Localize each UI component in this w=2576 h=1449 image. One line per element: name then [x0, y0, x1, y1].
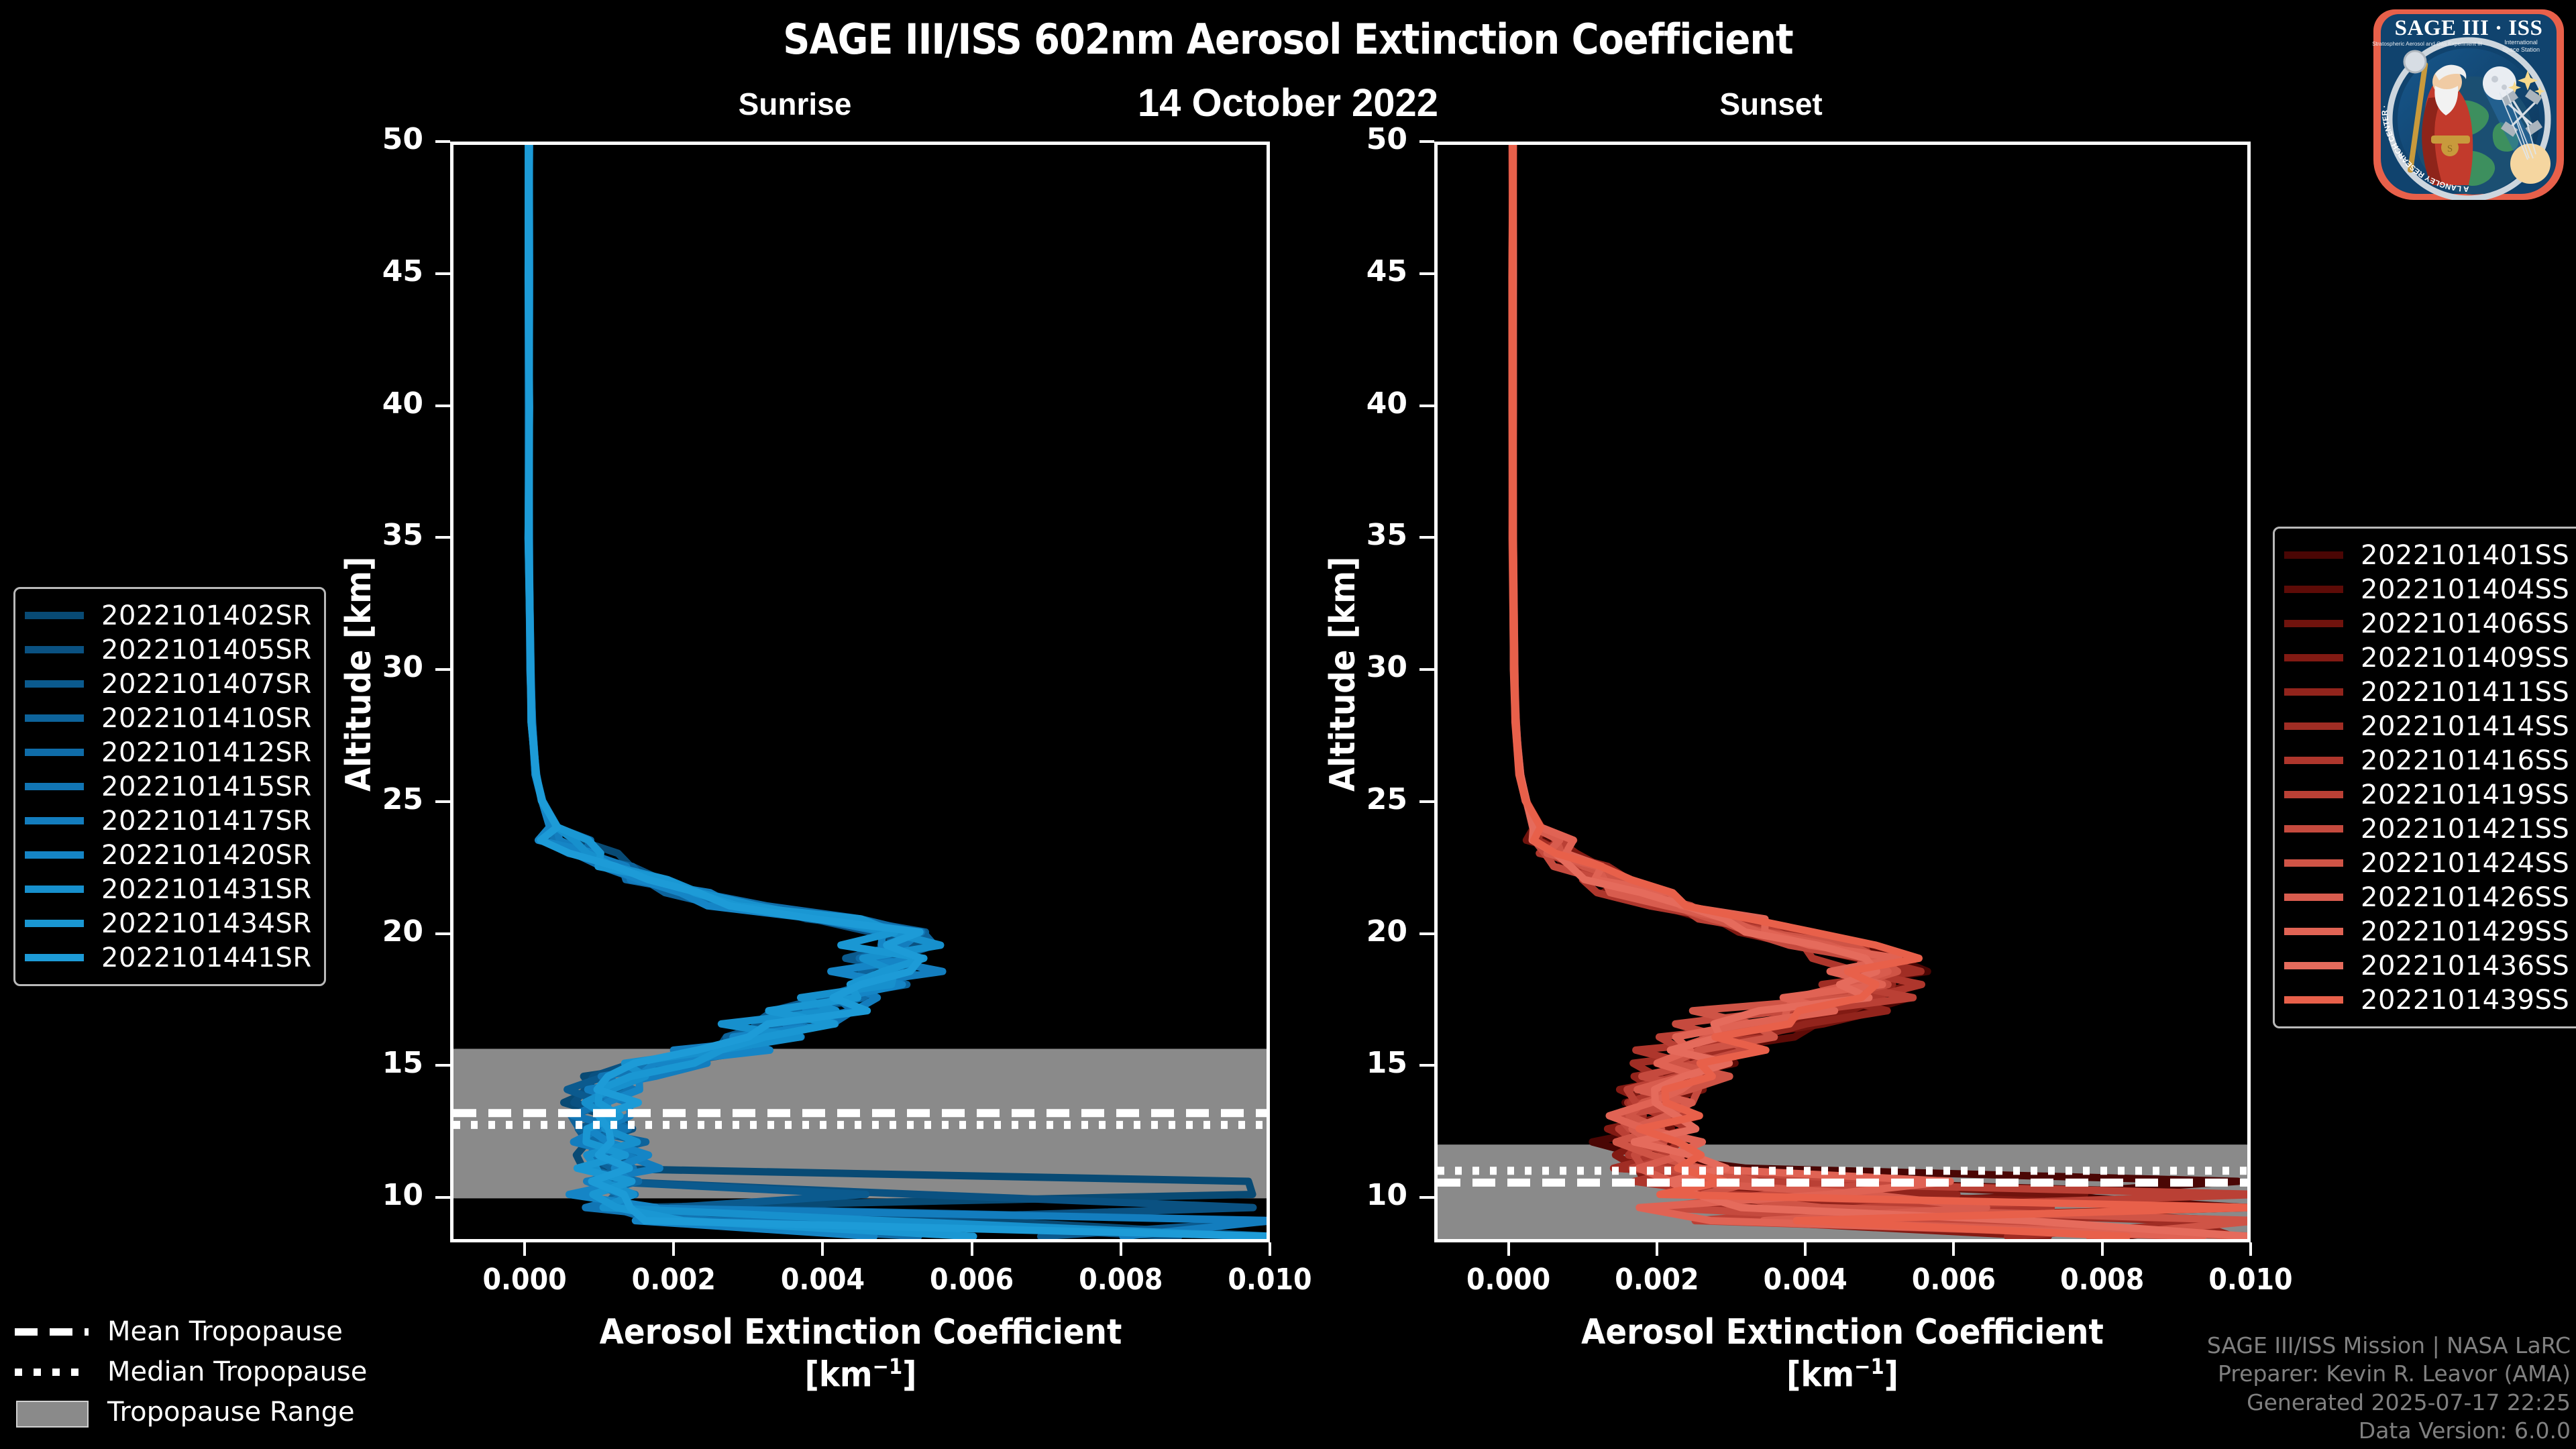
- y-axis-tick: [435, 800, 450, 803]
- legend-item-label: 2022101424SS: [2361, 848, 2569, 879]
- profile-line: [1512, 145, 2247, 1236]
- legend-color-swatch: [25, 954, 84, 961]
- credits-preparer: Preparer: Kevin R. Leavor (AMA): [2207, 1360, 2571, 1388]
- legend-color-swatch: [2284, 825, 2343, 833]
- logo-subtitle-left: Stratospheric Aerosol and Gas Experiment…: [2372, 41, 2482, 47]
- panel-title-sunset: Sunset: [1583, 86, 1959, 122]
- page-subtitle: 14 October 2022: [0, 80, 2576, 125]
- legend-item-label: 2022101416SS: [2361, 745, 2569, 776]
- x-axis-tick: [2101, 1242, 2104, 1256]
- dashed-line-icon: [15, 1316, 89, 1347]
- legend-item-label: 2022101412SR: [101, 737, 312, 768]
- legend-item-label: 2022101411SS: [2361, 677, 2569, 708]
- legend-color-swatch: [2284, 757, 2343, 764]
- legend-item-tropopause-range: Tropopause Range: [15, 1392, 367, 1432]
- y-axis-tick: [435, 536, 450, 539]
- legend-item[interactable]: 2022101441SR: [25, 941, 312, 975]
- y-axis-tick: [1419, 405, 1434, 407]
- legend-sunrise[interactable]: 2022101402SR2022101405SR2022101407SR2022…: [13, 587, 326, 986]
- x-axis-tick: [672, 1242, 675, 1256]
- legend-color-swatch: [2284, 996, 2343, 1004]
- y-axis-tick: [1419, 272, 1434, 275]
- x-axis-tick: [1507, 1242, 1510, 1256]
- legend-item[interactable]: 2022101426SS: [2284, 880, 2569, 914]
- x-axis-tick: [1120, 1242, 1122, 1256]
- y-axis-tick: [435, 405, 450, 407]
- legend-item[interactable]: 2022101404SS: [2284, 572, 2569, 606]
- legend-color-swatch: [2284, 551, 2343, 559]
- profile-line: [1512, 145, 2247, 1236]
- y-axis-tick-label: 40: [323, 386, 423, 421]
- y-axis-tick: [435, 668, 450, 671]
- x-axis-tick-label: 0.010: [2177, 1263, 2324, 1297]
- legend-item[interactable]: 2022101412SR: [25, 735, 312, 769]
- legend-item[interactable]: 2022101415SR: [25, 769, 312, 804]
- legend-color-swatch: [2284, 859, 2343, 867]
- legend-item-label: 2022101402SR: [101, 600, 312, 631]
- legend-item[interactable]: 2022101406SS: [2284, 606, 2569, 641]
- y-axis-tick-label: 35: [1307, 518, 1407, 552]
- legend-item-label: 2022101426SS: [2361, 882, 2569, 913]
- legend-color-swatch: [25, 646, 84, 653]
- legend-item-label: 2022101421SS: [2361, 814, 2569, 845]
- profile-lines-sunrise: [453, 145, 1267, 1239]
- x-axis-tick-label: 0.002: [1583, 1263, 1731, 1297]
- plot-area-sunrise: [450, 142, 1270, 1242]
- y-axis-tick-label: 45: [323, 254, 423, 288]
- x-axis-label-right-line1: Aerosol Extinction Coefficient: [1434, 1311, 2251, 1354]
- legend-color-swatch: [25, 920, 84, 927]
- x-axis-tick-label: 0.006: [1880, 1263, 2027, 1297]
- legend-item[interactable]: 2022101416SS: [2284, 743, 2569, 777]
- y-axis-tick-label: 20: [323, 914, 423, 949]
- profile-line: [1512, 145, 2243, 1236]
- x-axis-tick-label: 0.006: [898, 1263, 1046, 1297]
- legend-item[interactable]: 2022101439SS: [2284, 983, 2569, 1017]
- x-axis-tick: [821, 1242, 824, 1256]
- x-axis-label-left-line1: Aerosol Extinction Coefficient: [451, 1311, 1271, 1354]
- y-axis-tick: [1419, 668, 1434, 671]
- legend-item-label: 2022101404SS: [2361, 574, 2569, 605]
- legend-item[interactable]: 2022101436SS: [2284, 949, 2569, 983]
- legend-color-swatch: [2284, 928, 2343, 935]
- legend-item-label: 2022101429SS: [2361, 916, 2569, 947]
- profile-line: [1513, 145, 2234, 1236]
- legend-item[interactable]: 2022101410SR: [25, 701, 312, 735]
- panel-title-sunrise: Sunrise: [607, 86, 983, 122]
- y-axis-tick-label: 50: [323, 122, 423, 156]
- y-axis-tick-label: 35: [323, 518, 423, 552]
- legend-item-label: 2022101409SS: [2361, 643, 2569, 674]
- logo-subtitle-right-2: Space Station: [2502, 46, 2540, 53]
- svg-text:S: S: [2447, 144, 2453, 154]
- y-axis-tick: [435, 1064, 450, 1067]
- y-axis-tick: [1419, 800, 1434, 803]
- legend-label-mean-tropopause: Mean Tropopause: [107, 1316, 343, 1347]
- plot-area-sunset: [1434, 142, 2251, 1242]
- page-title: SAGE III/ISS 602nm Aerosol Extinction Co…: [0, 15, 2576, 64]
- y-axis-label-right: Altitude [km]: [1323, 557, 1363, 792]
- profile-line: [1513, 145, 2245, 1236]
- profile-line: [1512, 145, 2247, 1236]
- legend-color-swatch: [25, 680, 84, 688]
- y-axis-tick-label: 10: [1307, 1178, 1407, 1212]
- x-axis-tick: [2249, 1242, 2252, 1256]
- profile-line: [1512, 145, 2235, 1236]
- y-axis-tick-label: 45: [1307, 254, 1407, 288]
- legend-color-swatch: [25, 714, 84, 722]
- x-axis-tick: [1952, 1242, 1955, 1256]
- x-axis-tick-label: 0.000: [451, 1263, 598, 1297]
- x-axis-tick: [1804, 1242, 1807, 1256]
- credits-generated: Generated 2025-07-17 22:25: [2207, 1389, 2571, 1417]
- y-axis-tick-label: 40: [1307, 386, 1407, 421]
- legend-item[interactable]: 2022101429SS: [2284, 914, 2569, 949]
- legend-item-label: 2022101405SR: [101, 635, 312, 665]
- legend-color-swatch: [2284, 586, 2343, 593]
- x-axis-tick-label: 0.004: [749, 1263, 896, 1297]
- legend-item[interactable]: 2022101421SS: [2284, 812, 2569, 846]
- x-axis-label-right-line2: [km−1]: [1434, 1354, 2251, 1397]
- profile-line: [1512, 145, 2247, 1236]
- legend-item-label: 2022101434SR: [101, 908, 312, 939]
- logo-title: SAGE III · ISS: [2395, 16, 2543, 40]
- legend-item-label: 2022101439SS: [2361, 985, 2569, 1016]
- y-axis-tick-label: 10: [323, 1178, 423, 1212]
- x-axis-tick-label: 0.010: [1196, 1263, 1344, 1297]
- tropopause-legend: Mean Tropopause Median Tropopause Tropop…: [15, 1311, 367, 1432]
- legend-item[interactable]: 2022101420SR: [25, 838, 312, 872]
- credits-data-version: Data Version: 6.0.0: [2207, 1417, 2571, 1445]
- y-axis-tick-label: 15: [1307, 1046, 1407, 1080]
- x-axis-label-left-line2: [km−1]: [451, 1354, 1271, 1397]
- y-axis-tick-label: 15: [323, 1046, 423, 1080]
- legend-item[interactable]: 2022101407SR: [25, 667, 312, 701]
- x-axis-tick-label: 0.008: [2029, 1263, 2176, 1297]
- legend-label-median-tropopause: Median Tropopause: [107, 1356, 367, 1387]
- profile-line: [1513, 145, 2242, 1236]
- legend-item[interactable]: 2022101411SS: [2284, 675, 2569, 709]
- legend-color-swatch: [2284, 791, 2343, 798]
- x-axis-tick: [523, 1242, 526, 1256]
- y-axis-tick: [435, 932, 450, 935]
- y-axis-tick: [1419, 932, 1434, 935]
- legend-color-swatch: [2284, 894, 2343, 901]
- legend-item-label: 2022101414SS: [2361, 711, 2569, 742]
- credits-block: SAGE III/ISS Mission | NASA LaRC Prepare…: [2207, 1332, 2571, 1445]
- logo-subtitle-right-1: International: [2504, 39, 2538, 46]
- profile-line: [1512, 145, 2247, 1236]
- legend-color-swatch: [25, 612, 84, 619]
- legend-item[interactable]: 2022101401SS: [2284, 538, 2569, 572]
- legend-item[interactable]: 2022101417SR: [25, 804, 312, 838]
- legend-color-swatch: [2284, 688, 2343, 696]
- y-axis-tick: [1419, 1196, 1434, 1199]
- legend-color-swatch: [25, 885, 84, 893]
- legend-item[interactable]: 2022101409SS: [2284, 641, 2569, 675]
- legend-item-label: 2022101406SS: [2361, 608, 2569, 639]
- profile-line: [1513, 145, 2248, 1236]
- x-axis-tick-label: 0.000: [1435, 1263, 1582, 1297]
- y-axis-label-left: Altitude [km]: [339, 557, 379, 792]
- legend-color-swatch: [25, 783, 84, 790]
- legend-color-swatch: [2284, 654, 2343, 661]
- x-axis-label-right: Aerosol Extinction Coefficient [km−1]: [1434, 1311, 2251, 1397]
- legend-item-label: 2022101407SR: [101, 669, 312, 700]
- y-axis-tick: [1419, 140, 1434, 143]
- x-axis-tick-label: 0.004: [1731, 1263, 1879, 1297]
- legend-item[interactable]: 2022101434SR: [25, 906, 312, 941]
- profile-line: [1513, 145, 2248, 1236]
- legend-item-label: 2022101401SS: [2361, 540, 2569, 571]
- x-axis-tick: [1269, 1242, 1271, 1256]
- legend-item-label: 2022101436SS: [2361, 951, 2569, 981]
- profile-line: [1513, 145, 2203, 1236]
- legend-color-swatch: [25, 817, 84, 824]
- y-axis-tick: [435, 1196, 450, 1199]
- y-axis-tick: [435, 272, 450, 275]
- y-axis-tick: [435, 140, 450, 143]
- legend-item-label: 2022101431SR: [101, 874, 312, 905]
- x-axis-label-left: Aerosol Extinction Coefficient [km−1]: [451, 1311, 1271, 1397]
- legend-sunset[interactable]: 2022101401SS2022101404SS2022101406SS2022…: [2273, 527, 2576, 1028]
- legend-item-label: 2022101420SR: [101, 840, 312, 871]
- sage-iii-iss-mission-patch-logo: S SAGE III · ISS Stratospheric Aerosol a…: [2368, 4, 2569, 205]
- x-axis-tick-label: 0.002: [600, 1263, 747, 1297]
- x-axis-tick: [971, 1242, 973, 1256]
- legend-item-median-tropopause: Median Tropopause: [15, 1352, 367, 1392]
- y-axis-tick: [1419, 536, 1434, 539]
- legend-item-label: 2022101441SR: [101, 943, 312, 973]
- legend-item-label: 2022101417SR: [101, 806, 312, 837]
- y-axis-tick: [1419, 1064, 1434, 1067]
- y-axis-tick-label: 20: [1307, 914, 1407, 949]
- x-axis-tick: [1656, 1242, 1658, 1256]
- legend-color-swatch: [25, 851, 84, 859]
- legend-color-swatch: [25, 749, 84, 756]
- legend-item[interactable]: 2022101431SR: [25, 872, 312, 906]
- legend-item-label: 2022101419SS: [2361, 780, 2569, 810]
- filled-box-icon: [15, 1397, 89, 1428]
- legend-color-swatch: [2284, 722, 2343, 730]
- legend-label-tropopause-range: Tropopause Range: [107, 1397, 355, 1428]
- profile-line: [1513, 145, 2247, 1236]
- legend-item-label: 2022101410SR: [101, 703, 312, 734]
- legend-item[interactable]: 2022101402SR: [25, 598, 312, 633]
- legend-item-mean-tropopause: Mean Tropopause: [15, 1311, 367, 1352]
- legend-color-swatch: [2284, 620, 2343, 627]
- y-axis-tick-label: 50: [1307, 122, 1407, 156]
- legend-item[interactable]: 2022101419SS: [2284, 777, 2569, 812]
- legend-item[interactable]: 2022101414SS: [2284, 709, 2569, 743]
- legend-item[interactable]: 2022101424SS: [2284, 846, 2569, 880]
- legend-color-swatch: [2284, 962, 2343, 969]
- profile-lines-sunset: [1438, 145, 2247, 1239]
- credits-mission: SAGE III/ISS Mission | NASA LaRC: [2207, 1332, 2571, 1360]
- dotted-line-icon: [15, 1356, 89, 1387]
- x-axis-tick-label: 0.008: [1047, 1263, 1195, 1297]
- legend-item[interactable]: 2022101405SR: [25, 633, 312, 667]
- legend-item-label: 2022101415SR: [101, 771, 312, 802]
